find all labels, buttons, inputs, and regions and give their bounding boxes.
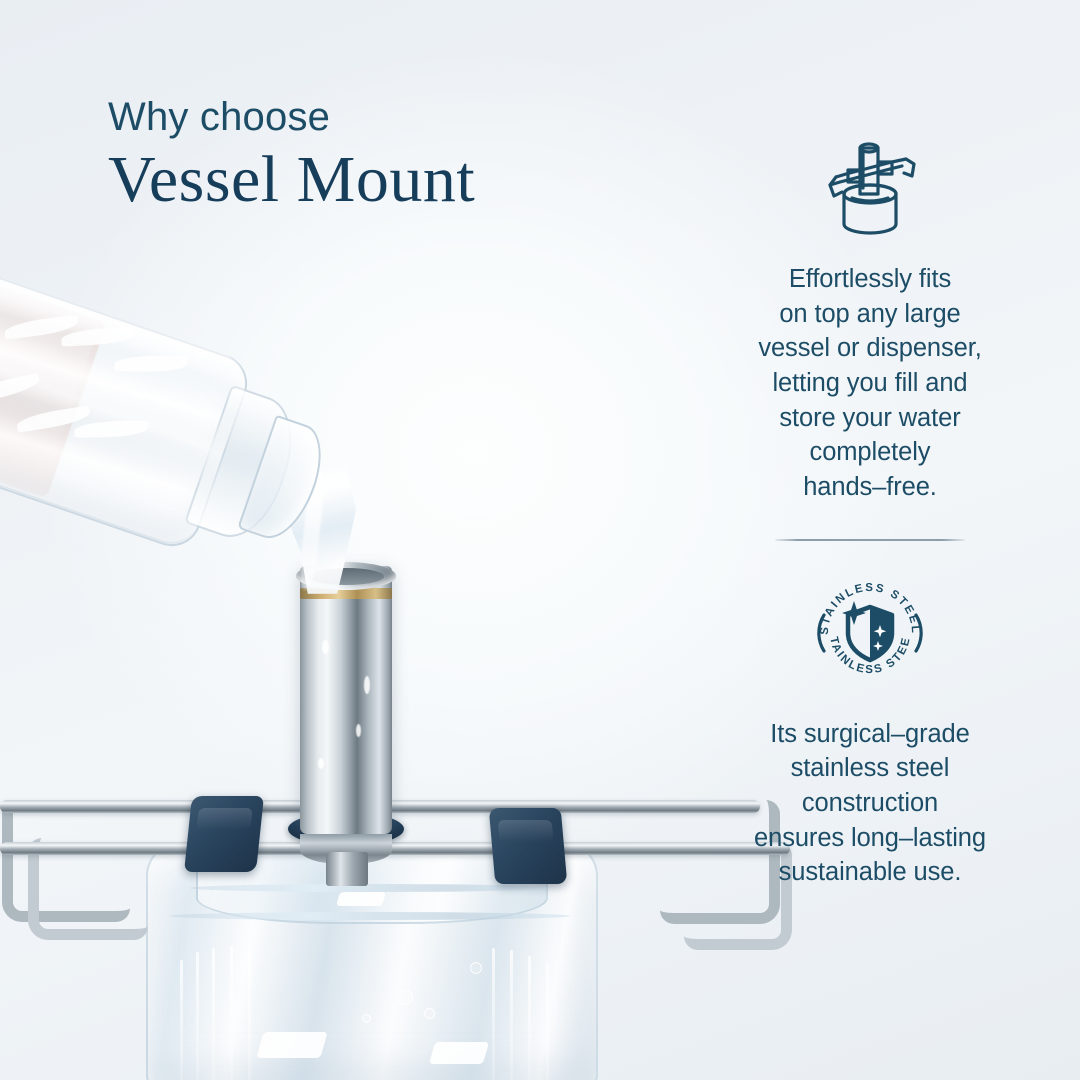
cylinder-collar bbox=[300, 834, 392, 864]
carafe-body bbox=[0, 267, 255, 554]
wire-bracket-left-inner bbox=[28, 838, 148, 940]
water-droplet bbox=[356, 724, 361, 737]
navy-clamp-right bbox=[489, 808, 568, 884]
vessel-mount-device-icon bbox=[806, 128, 934, 240]
water-stream bbox=[282, 466, 368, 594]
navy-clamp-left bbox=[184, 796, 264, 872]
jar-rib bbox=[248, 946, 251, 1080]
page-title: Vessel Mount bbox=[108, 143, 668, 217]
etched-leaf bbox=[16, 405, 92, 432]
jar-rib bbox=[180, 960, 183, 1080]
water-bubble bbox=[362, 1014, 371, 1023]
feature-item-stainless-steel: STAINLESS STEEL STAINLESS STEEL Its surg… bbox=[700, 571, 1040, 890]
jar-rib bbox=[546, 964, 549, 1080]
jar-ring-lower bbox=[170, 912, 570, 920]
steel-rod-upper bbox=[0, 800, 760, 813]
water-droplet bbox=[322, 640, 329, 654]
water-droplet bbox=[318, 758, 324, 769]
stainless-steel-cylinder bbox=[300, 566, 392, 834]
etched-leaf bbox=[3, 315, 78, 340]
jar-rib bbox=[528, 956, 531, 1080]
jar-rib bbox=[212, 948, 215, 1080]
cylinder-nut bbox=[326, 852, 368, 886]
glass-dispenser-jar bbox=[146, 846, 598, 1080]
jar-rib bbox=[492, 948, 495, 1080]
promo-canvas: Why choose Vessel Mount bbox=[0, 0, 1080, 1080]
carafe-neck bbox=[184, 385, 307, 549]
headline-block: Why choose Vessel Mount bbox=[108, 96, 668, 217]
glass-carafe bbox=[0, 233, 379, 653]
jar-rib bbox=[230, 946, 233, 1080]
hand bbox=[0, 273, 107, 498]
water-bubble bbox=[398, 990, 413, 1005]
jar-rib bbox=[196, 952, 199, 1080]
water-stream-highlight bbox=[298, 469, 326, 590]
cylinder-rim-opening bbox=[308, 568, 384, 585]
etched-leaf bbox=[114, 355, 188, 372]
wire-bracket-left-outer bbox=[2, 800, 130, 922]
cylinder-rim bbox=[296, 562, 396, 590]
jar-ring-upper bbox=[190, 884, 550, 892]
etched-leaf bbox=[74, 421, 148, 438]
jar-neck bbox=[196, 848, 548, 924]
feature-text-vessel-fit: Effortlessly fits on top any large vesse… bbox=[758, 262, 981, 505]
jar-rib bbox=[510, 950, 513, 1080]
feature-text-stainless-steel: Its surgical–grade stainless steel const… bbox=[754, 717, 986, 890]
stainless-steel-badge-icon: STAINLESS STEEL STAINLESS STEEL bbox=[808, 571, 932, 695]
feature-item-vessel-fit: Effortlessly fits on top any large vesse… bbox=[700, 128, 1040, 505]
section-divider bbox=[775, 539, 965, 541]
water-droplet bbox=[364, 676, 370, 694]
steel-rod-lower bbox=[0, 842, 790, 855]
water-highlight bbox=[429, 1042, 489, 1064]
water-highlight bbox=[336, 892, 386, 906]
carafe-reflection bbox=[0, 267, 253, 550]
water-highlight bbox=[256, 1032, 327, 1058]
cylinder-navy-base bbox=[288, 812, 404, 846]
etched-leaf bbox=[0, 373, 41, 405]
feature-column: Effortlessly fits on top any large vesse… bbox=[700, 128, 1040, 890]
headline-kicker: Why choose bbox=[108, 96, 668, 139]
carafe-spout bbox=[237, 415, 333, 548]
etched-leaf bbox=[61, 327, 136, 347]
cylinder-brass-ring bbox=[300, 588, 392, 599]
water-bubble bbox=[470, 962, 482, 974]
water-bubble bbox=[424, 1008, 435, 1019]
